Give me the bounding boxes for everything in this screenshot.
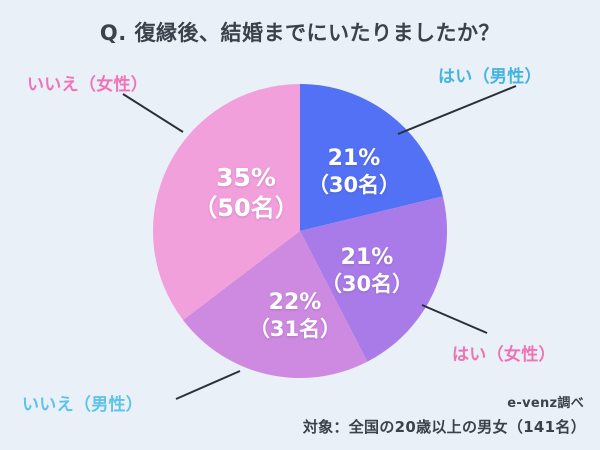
pie-chart [152,83,448,379]
callout-label-no-female: いいえ（女性） [27,70,148,95]
survey-target-note: 対象：全国の20歳以上の男女（141名） [303,416,586,437]
infographic-canvas: Q. 復縁後、結婚までにいたりましたか？ 21% （30名） 21% （30名）… [0,0,600,450]
callout-label-yes-female: はい（女性） [452,340,556,365]
callout-label-yes-male: はい（男性） [438,62,542,87]
page-title: Q. 復縁後、結婚までにいたりましたか？ [0,17,600,47]
callout-label-no-male: いいえ（男性） [22,390,143,415]
source-attribution: e-venz調べ [507,392,584,411]
